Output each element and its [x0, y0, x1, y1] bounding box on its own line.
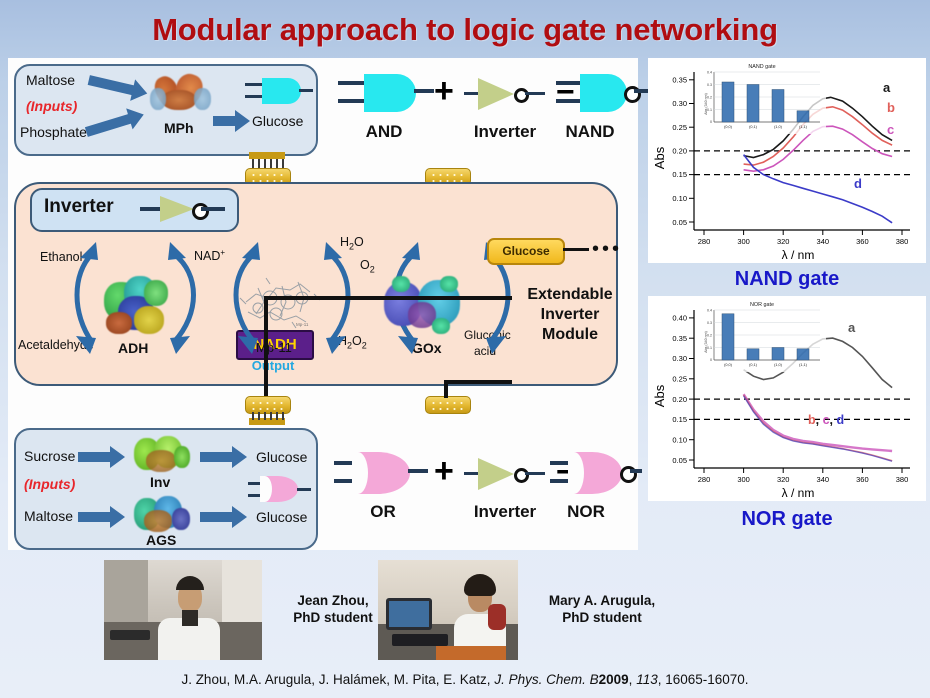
svg-text:320: 320 [777, 237, 790, 246]
svg-text:0.05: 0.05 [672, 456, 687, 465]
svg-text:(0,0): (0,0) [724, 363, 733, 367]
citation-journal: J. Phys. Chem. B [494, 672, 598, 687]
svg-text:Mp-11: Mp-11 [296, 322, 309, 327]
bottom-pins [252, 412, 284, 420]
arrow-inv-to-glucose [200, 446, 252, 468]
caption-mary-arugula: Mary A. Arugula, PhD student [512, 592, 692, 626]
svg-text:0.40: 0.40 [672, 314, 687, 323]
equation-bottom-or-gate [334, 448, 432, 500]
sugar-product-2: Glucose [256, 509, 307, 525]
equation-top-nand-label: NAND [538, 122, 642, 142]
module-title-line1: Extendable [520, 285, 620, 305]
mph-pin-strip [249, 152, 285, 159]
svg-text:0.15: 0.15 [672, 415, 687, 424]
wire-bot-1-horz [264, 296, 512, 300]
svg-text:0.35: 0.35 [672, 334, 687, 343]
mph-input-2-label: Phosphate [20, 124, 87, 140]
mp11-molecular-structure: Mp-11 [236, 268, 322, 336]
module-title: Extendable Inverter Module [520, 285, 620, 345]
svg-text:0.15: 0.15 [672, 170, 687, 179]
svg-text:0.30: 0.30 [672, 354, 687, 363]
citation-volume: 113 [636, 672, 658, 687]
equation-bottom-plus: + [434, 454, 454, 488]
svg-text:380: 380 [896, 237, 909, 246]
svg-text:0.20: 0.20 [672, 395, 687, 404]
nand-chart-svg: 0.050.10 0.150.20 0.250.30 0.35 28030032… [648, 58, 926, 263]
equation-bottom-nor-label: NOR [534, 502, 638, 522]
sugar-inputs-note: (Inputs) [24, 476, 75, 492]
svg-text:300: 300 [737, 475, 750, 484]
wire-bot-2-horz [444, 380, 512, 384]
inv-protein-structure [132, 434, 192, 474]
page-title: Modular approach to logic gate networkin… [0, 12, 930, 48]
ellipsis-more: ••• [592, 243, 622, 255]
mph-input-1-label: Maltose [26, 72, 75, 88]
svg-text:b, c, d: b, c, d [808, 413, 844, 427]
mph-protein-structure [150, 72, 212, 116]
svg-text:a: a [883, 80, 891, 95]
nor-chart-svg: 0.050.10 0.150.20 0.250.30 0.350.40 2803… [648, 296, 926, 501]
svg-text:(0,0): (0,0) [724, 125, 733, 129]
and-gate-icon-small [245, 74, 309, 108]
svg-text:d: d [854, 176, 862, 191]
svg-text:λ / nm: λ / nm [782, 486, 815, 500]
svg-text:300: 300 [737, 237, 750, 246]
svg-text:(0,1): (0,1) [749, 125, 758, 129]
svg-text:b: b [887, 100, 895, 115]
svg-text:Abs (340 nm): Abs (340 nm) [704, 331, 708, 353]
svg-text:0: 0 [710, 358, 712, 362]
gox-protein-structure [382, 274, 466, 338]
mph-product-label: Glucose [252, 113, 303, 129]
svg-text:λ / nm: λ / nm [782, 248, 815, 262]
svg-text:0.3: 0.3 [707, 321, 712, 325]
svg-text:0.35: 0.35 [672, 76, 687, 85]
ags-enzyme-label: AGS [146, 532, 176, 548]
svg-text:a: a [848, 320, 856, 335]
svg-text:Abs (340 nm): Abs (340 nm) [704, 93, 708, 115]
svg-text:Abs: Abs [652, 384, 667, 407]
equation-bottom-nor-gate [524, 448, 634, 500]
svg-text:340: 340 [817, 475, 830, 484]
svg-text:0: 0 [710, 120, 712, 124]
citation-year: 2009 [599, 672, 629, 687]
inv-enzyme-label: Inv [150, 474, 170, 490]
arrow-maltose-to-ags [78, 506, 130, 528]
or-gate-icon-small [248, 474, 312, 506]
svg-text:0.4: 0.4 [707, 309, 712, 313]
arrow-sucrose-to-inv [78, 446, 130, 468]
svg-text:(1,0): (1,0) [774, 125, 783, 129]
connector-socket-4 [425, 396, 471, 414]
svg-text:0.25: 0.25 [672, 123, 687, 132]
nor-gate-caption: NOR gate [648, 508, 926, 531]
svg-text:0.4: 0.4 [707, 71, 712, 75]
sugar-input-1-label: Sucrose [24, 448, 75, 464]
svg-text:NOR gate: NOR gate [750, 302, 774, 308]
equation-top-nand-gate [528, 68, 632, 120]
svg-text:0.20: 0.20 [672, 147, 687, 156]
equation-top-plus: + [434, 74, 454, 108]
photo-mary-arugula [378, 560, 518, 660]
svg-text:(1,1): (1,1) [799, 125, 808, 129]
svg-text:(0,1): (0,1) [749, 363, 758, 367]
svg-text:0.05: 0.05 [672, 218, 687, 227]
svg-text:360: 360 [856, 475, 869, 484]
svg-text:NAND gate: NAND gate [748, 64, 775, 70]
svg-text:360: 360 [856, 237, 869, 246]
equation-bottom-or-label: OR [334, 502, 432, 522]
mph-enzyme-label: MPh [164, 120, 194, 136]
module-title-line3: Module [520, 325, 620, 345]
arrow-ags-to-glucose [200, 506, 252, 528]
svg-text:0.10: 0.10 [672, 436, 687, 445]
equation-top-and-gate [338, 68, 430, 120]
person-1-name: Mary A. Arugula, [512, 592, 692, 609]
arrow-mph-to-glucose [213, 110, 253, 132]
citation: J. Zhou, M.A. Arugula, J. Halámek, M. Pi… [0, 672, 930, 687]
svg-text:Abs: Abs [652, 146, 667, 169]
citation-pages: , 16065-16070. [658, 672, 749, 687]
svg-text:280: 280 [698, 237, 711, 246]
wire-bot-1-vert [264, 296, 268, 396]
photo-jean-zhou [104, 560, 262, 660]
wire-glucose-out [563, 248, 589, 251]
svg-text:c: c [887, 122, 894, 137]
svg-text:340: 340 [817, 237, 830, 246]
sugar-product-1: Glucose [256, 449, 307, 465]
svg-text:(1,1): (1,1) [799, 363, 808, 367]
sugar-input-2-label: Maltose [24, 508, 73, 524]
mph-inputs-note: (Inputs) [26, 98, 77, 114]
ags-protein-structure [132, 494, 192, 534]
svg-text:0.25: 0.25 [672, 375, 687, 384]
svg-text:0.30: 0.30 [672, 99, 687, 108]
module-title-line2: Inverter [520, 305, 620, 325]
svg-text:320: 320 [777, 475, 790, 484]
svg-text:0.10: 0.10 [672, 194, 687, 203]
nand-gate-caption: NAND gate [648, 268, 926, 291]
svg-text:(1,0): (1,0) [774, 363, 783, 367]
glucose-pill-label: Glucose [487, 238, 565, 265]
svg-text:0.3: 0.3 [707, 83, 712, 87]
svg-text:280: 280 [698, 475, 711, 484]
equation-top-and-label: AND [338, 122, 430, 142]
adh-protein-structure [100, 272, 172, 338]
person-1-role: PhD student [512, 609, 692, 626]
svg-text:380: 380 [896, 475, 909, 484]
citation-authors: J. Zhou, M.A. Arugula, J. Halámek, M. Pi… [181, 672, 490, 687]
